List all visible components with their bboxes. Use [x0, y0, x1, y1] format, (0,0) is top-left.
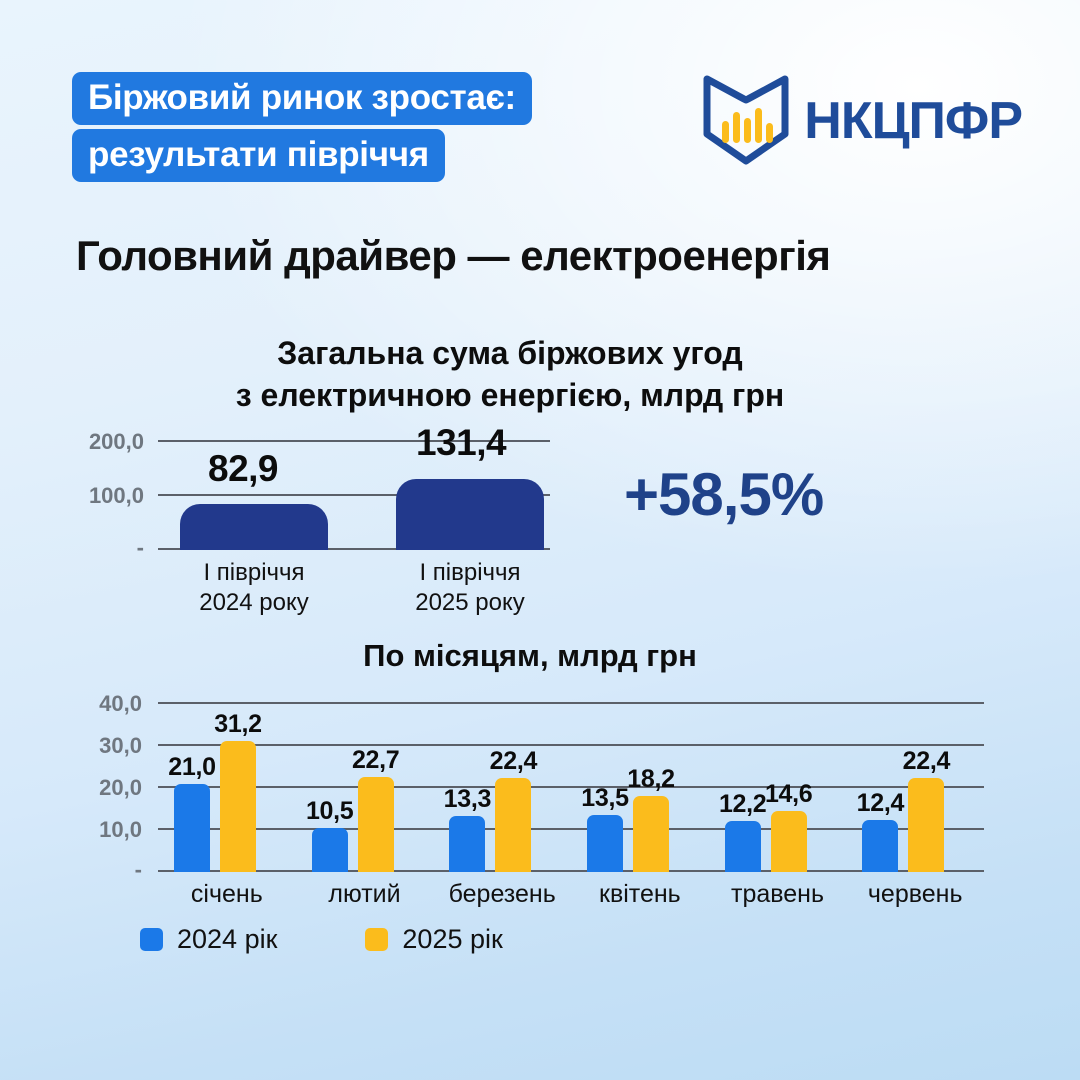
- chart1-ytick-0: 200,0: [89, 429, 144, 455]
- legend-swatch-2025-icon: [365, 928, 388, 951]
- chart2-value-2024-kviten: 13,5: [581, 784, 628, 813]
- chart1-subtitle-line-2: з електричною енергією, млрд грн: [0, 374, 1020, 416]
- chart2-ytick-10: 10,0: [99, 817, 142, 843]
- chart2-value-2025-sichen: 31,2: [214, 710, 261, 739]
- chart1-ytick-2: -: [137, 535, 144, 561]
- chart2-value-2024-cherven: 12,4: [857, 789, 904, 818]
- chart1-value-2024: 82,9: [208, 448, 278, 490]
- chart2-category-lyutyi: лютий: [296, 880, 434, 909]
- chart2-category-sichen: січень: [158, 880, 296, 909]
- chart1-y-axis: 200,0 100,0 -: [72, 440, 150, 550]
- chart2-value-2024-berezen: 13,3: [444, 785, 491, 814]
- chart2-bar-2024-cherven: [862, 820, 898, 872]
- chart2-value-2025-kviten: 18,2: [627, 765, 674, 794]
- page-title: Головний драйвер — електроенергія: [76, 232, 830, 280]
- shield-bars-logo-icon: [702, 74, 790, 166]
- chart1-category-2024: I півріччя2024 року: [180, 558, 328, 618]
- chart2-bar-2025-sichen: [220, 741, 256, 872]
- infographic-page: Біржовий ринок зростає: результати піврі…: [0, 0, 1080, 1080]
- chart2-value-2025-cherven: 22,4: [903, 747, 950, 776]
- chart2-plot-area: 21,0 31,2 січень 10,5 22,7 лютий 13,3 22…: [158, 700, 984, 872]
- monthly-chart: 40,0 30,0 20,0 10,0 - 21,0 31,2 січень: [72, 700, 984, 910]
- chart2-group-kviten: 13,5 18,2 квітень: [571, 700, 709, 872]
- chart2-value-2024-lyutyi: 10,5: [306, 797, 353, 826]
- chart2-value-2025-lyutyi: 22,7: [352, 746, 399, 775]
- title-stack: Біржовий ринок зростає: результати піврі…: [72, 72, 532, 182]
- chart2-group-sichen: 21,0 31,2 січень: [158, 700, 296, 872]
- chart1-bar-2025: [396, 479, 544, 550]
- chart2-bar-2025-traven: [771, 811, 807, 872]
- legend-label-2024: 2024 рік: [177, 924, 277, 955]
- chart2-group-traven: 12,2 14,6 травень: [709, 700, 847, 872]
- chart2-value-2025-traven: 14,6: [765, 780, 812, 809]
- chart2-ytick-40: 40,0: [99, 691, 142, 717]
- chart2-bar-2025-kviten: [633, 796, 669, 872]
- title-line-2: результати півріччя: [72, 129, 445, 182]
- logo-wordmark: НКЦПФР: [804, 95, 1022, 147]
- half-year-total-chart: 200,0 100,0 - 82,9 I півріччя2024 року 1…: [72, 440, 1012, 615]
- chart2-ytick-0: -: [135, 857, 142, 883]
- chart2-group-berezen: 13,3 22,4 березень: [433, 700, 571, 872]
- chart1-bar-2024: [180, 504, 328, 550]
- chart1-subtitle-line-1: Загальна сума біржових угод: [0, 332, 1020, 374]
- chart2-value-2024-sichen: 21,0: [168, 753, 215, 782]
- chart2-category-berezen: березень: [433, 880, 571, 909]
- chart2-value-2025-berezen: 22,4: [490, 747, 537, 776]
- chart2-value-2024-traven: 12,2: [719, 790, 766, 819]
- chart2-legend: 2024 рік 2025 рік: [140, 924, 503, 955]
- legend-swatch-2024-icon: [140, 928, 163, 951]
- chart2-bar-2024-lyutyi: [312, 828, 348, 872]
- chart2-category-traven: травень: [709, 880, 847, 909]
- chart1-value-2025: 131,4: [416, 422, 506, 464]
- chart1-category-2025: I півріччя2025 року: [396, 558, 544, 618]
- chart2-y-axis: 40,0 30,0 20,0 10,0 -: [72, 700, 150, 872]
- chart2-category-kviten: квітень: [571, 880, 709, 909]
- chart2-bar-2025-lyutyi: [358, 777, 394, 872]
- legend-item-2024: 2024 рік: [140, 924, 277, 955]
- chart2-bar-2025-cherven: [908, 778, 944, 872]
- chart2-title: По місяцям, млрд грн: [0, 638, 1080, 674]
- nkcpfr-logo: НКЦПФР: [702, 74, 1022, 166]
- chart1-ytick-1: 100,0: [89, 483, 144, 509]
- chart2-bar-2024-kviten: [587, 815, 623, 872]
- chart2-group-cherven: 12,4 22,4 червень: [846, 700, 984, 872]
- chart2-bar-2024-berezen: [449, 816, 485, 872]
- chart2-bar-2024-traven: [725, 821, 761, 872]
- chart2-ytick-20: 20,0: [99, 775, 142, 801]
- chart2-ytick-30: 30,0: [99, 733, 142, 759]
- chart2-group-lyutyi: 10,5 22,7 лютий: [296, 700, 434, 872]
- legend-label-2025: 2025 рік: [402, 924, 502, 955]
- header: Біржовий ринок зростає: результати піврі…: [0, 72, 1080, 182]
- chart2-bar-groups: 21,0 31,2 січень 10,5 22,7 лютий 13,3 22…: [158, 700, 984, 872]
- chart2-bar-2024-sichen: [174, 784, 210, 872]
- growth-percentage-callout: +58,5%: [624, 460, 823, 529]
- chart1-subtitle: Загальна сума біржових угод з електрично…: [0, 332, 1080, 416]
- chart2-category-cherven: червень: [846, 880, 984, 909]
- chart1-plot-area: 82,9 I півріччя2024 року 131,4 I піврічч…: [158, 440, 550, 550]
- chart2-bar-2025-berezen: [495, 778, 531, 872]
- title-line-1: Біржовий ринок зростає:: [72, 72, 532, 125]
- legend-item-2025: 2025 рік: [365, 924, 502, 955]
